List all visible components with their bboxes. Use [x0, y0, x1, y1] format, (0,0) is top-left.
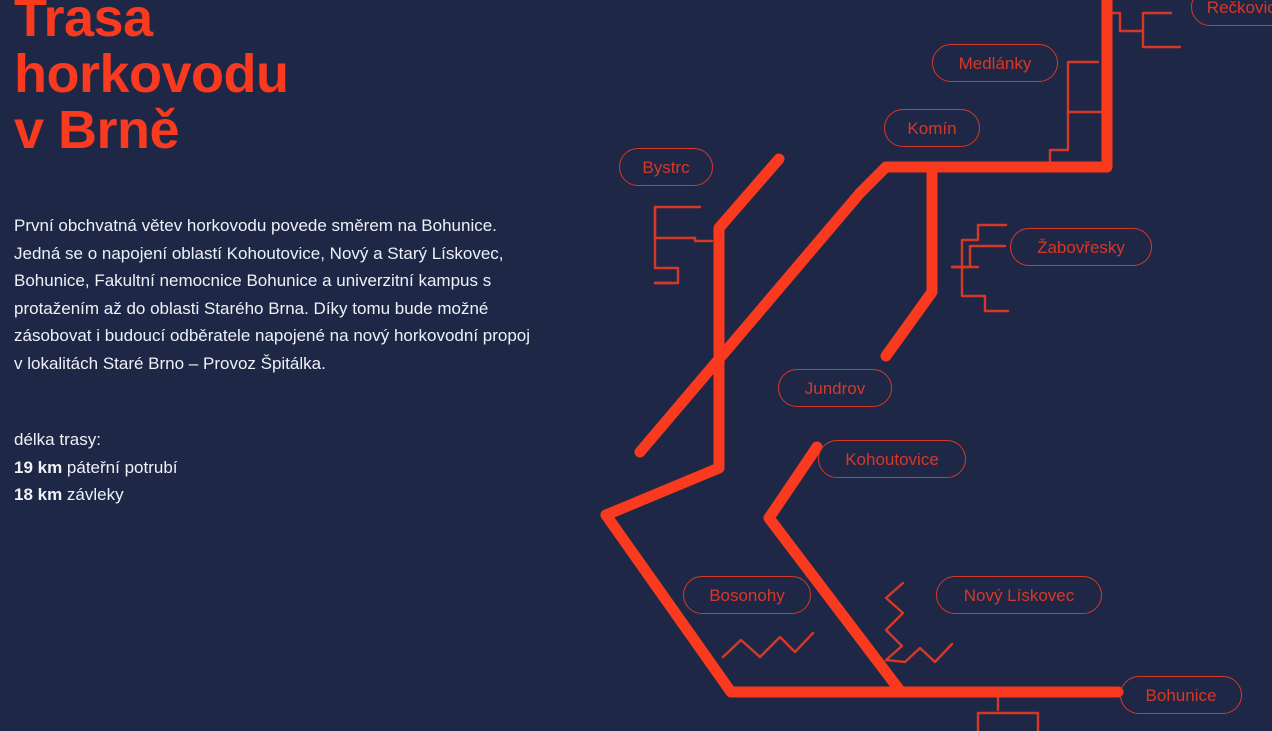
branch-bosonohy — [723, 633, 813, 657]
branch-reckovice — [1106, 13, 1171, 31]
route-length-value-connections: 18 km — [14, 485, 62, 504]
map-label-jundrov[interactable]: Jundrov — [778, 369, 892, 407]
trunk-kohoutovice — [769, 447, 901, 692]
text-column: Trasa horkovodu v Brně První obchvatná v… — [14, 0, 554, 158]
route-length-label-backbone: páteřní potrubí — [62, 458, 177, 477]
route-length-heading: délka trasy: — [14, 426, 434, 454]
branch-komin — [1017, 112, 1068, 170]
map-label-medlanky[interactable]: Medlánky — [932, 44, 1058, 82]
route-length-value-backbone: 19 km — [14, 458, 62, 477]
map-label-reckovice[interactable]: Rečkovice — [1191, 0, 1272, 26]
route-length-row-connections: 18 km závleky — [14, 481, 434, 509]
map-label-komin[interactable]: Komín — [884, 109, 980, 147]
page-title: Trasa horkovodu v Brně — [14, 0, 554, 158]
branch-zabovresky-lower — [962, 267, 1008, 311]
branch-reckovice-2 — [1143, 31, 1180, 47]
map-label-bosonohy[interactable]: Bosonohy — [683, 576, 811, 614]
trunk-jundrov-se — [640, 193, 860, 452]
map-label-zabovresky[interactable]: Žabovřesky — [1010, 228, 1152, 266]
map-label-bohunice[interactable]: Bohunice — [1120, 676, 1242, 714]
map-label-novy-liskovec[interactable]: Nový Lískovec — [936, 576, 1102, 614]
branch-bystrc-lower — [655, 268, 678, 283]
branch-zabovresky-top — [952, 246, 1005, 267]
route-length-block: délka trasy: 19 km páteřní potrubí 18 km… — [14, 426, 434, 509]
intro-paragraph: První obchvatná větev horkovodu povede s… — [14, 212, 534, 377]
branch-medlanky — [1068, 62, 1098, 112]
branch-bystrc-top — [655, 207, 695, 238]
map-label-bystrc[interactable]: Bystrc — [619, 148, 713, 186]
branch-novy-liskovec-a — [886, 583, 903, 660]
branch-bystrc-stem — [695, 238, 712, 241]
trunk-nw-spur — [860, 167, 886, 193]
trunk-bystrc — [606, 159, 779, 515]
route-length-label-connections: závleky — [62, 485, 123, 504]
trunk-komin — [886, 167, 932, 356]
route-length-row-backbone: 19 km páteřní potrubí — [14, 454, 434, 482]
branch-novy-liskovec-b — [886, 644, 952, 662]
infographic-page: Rečkovice Medlánky Komín Bystrc Žabovřes… — [0, 0, 1272, 731]
map-label-kohoutovice[interactable]: Kohoutovice — [818, 440, 966, 478]
branch-bohunice-box — [978, 713, 1038, 731]
